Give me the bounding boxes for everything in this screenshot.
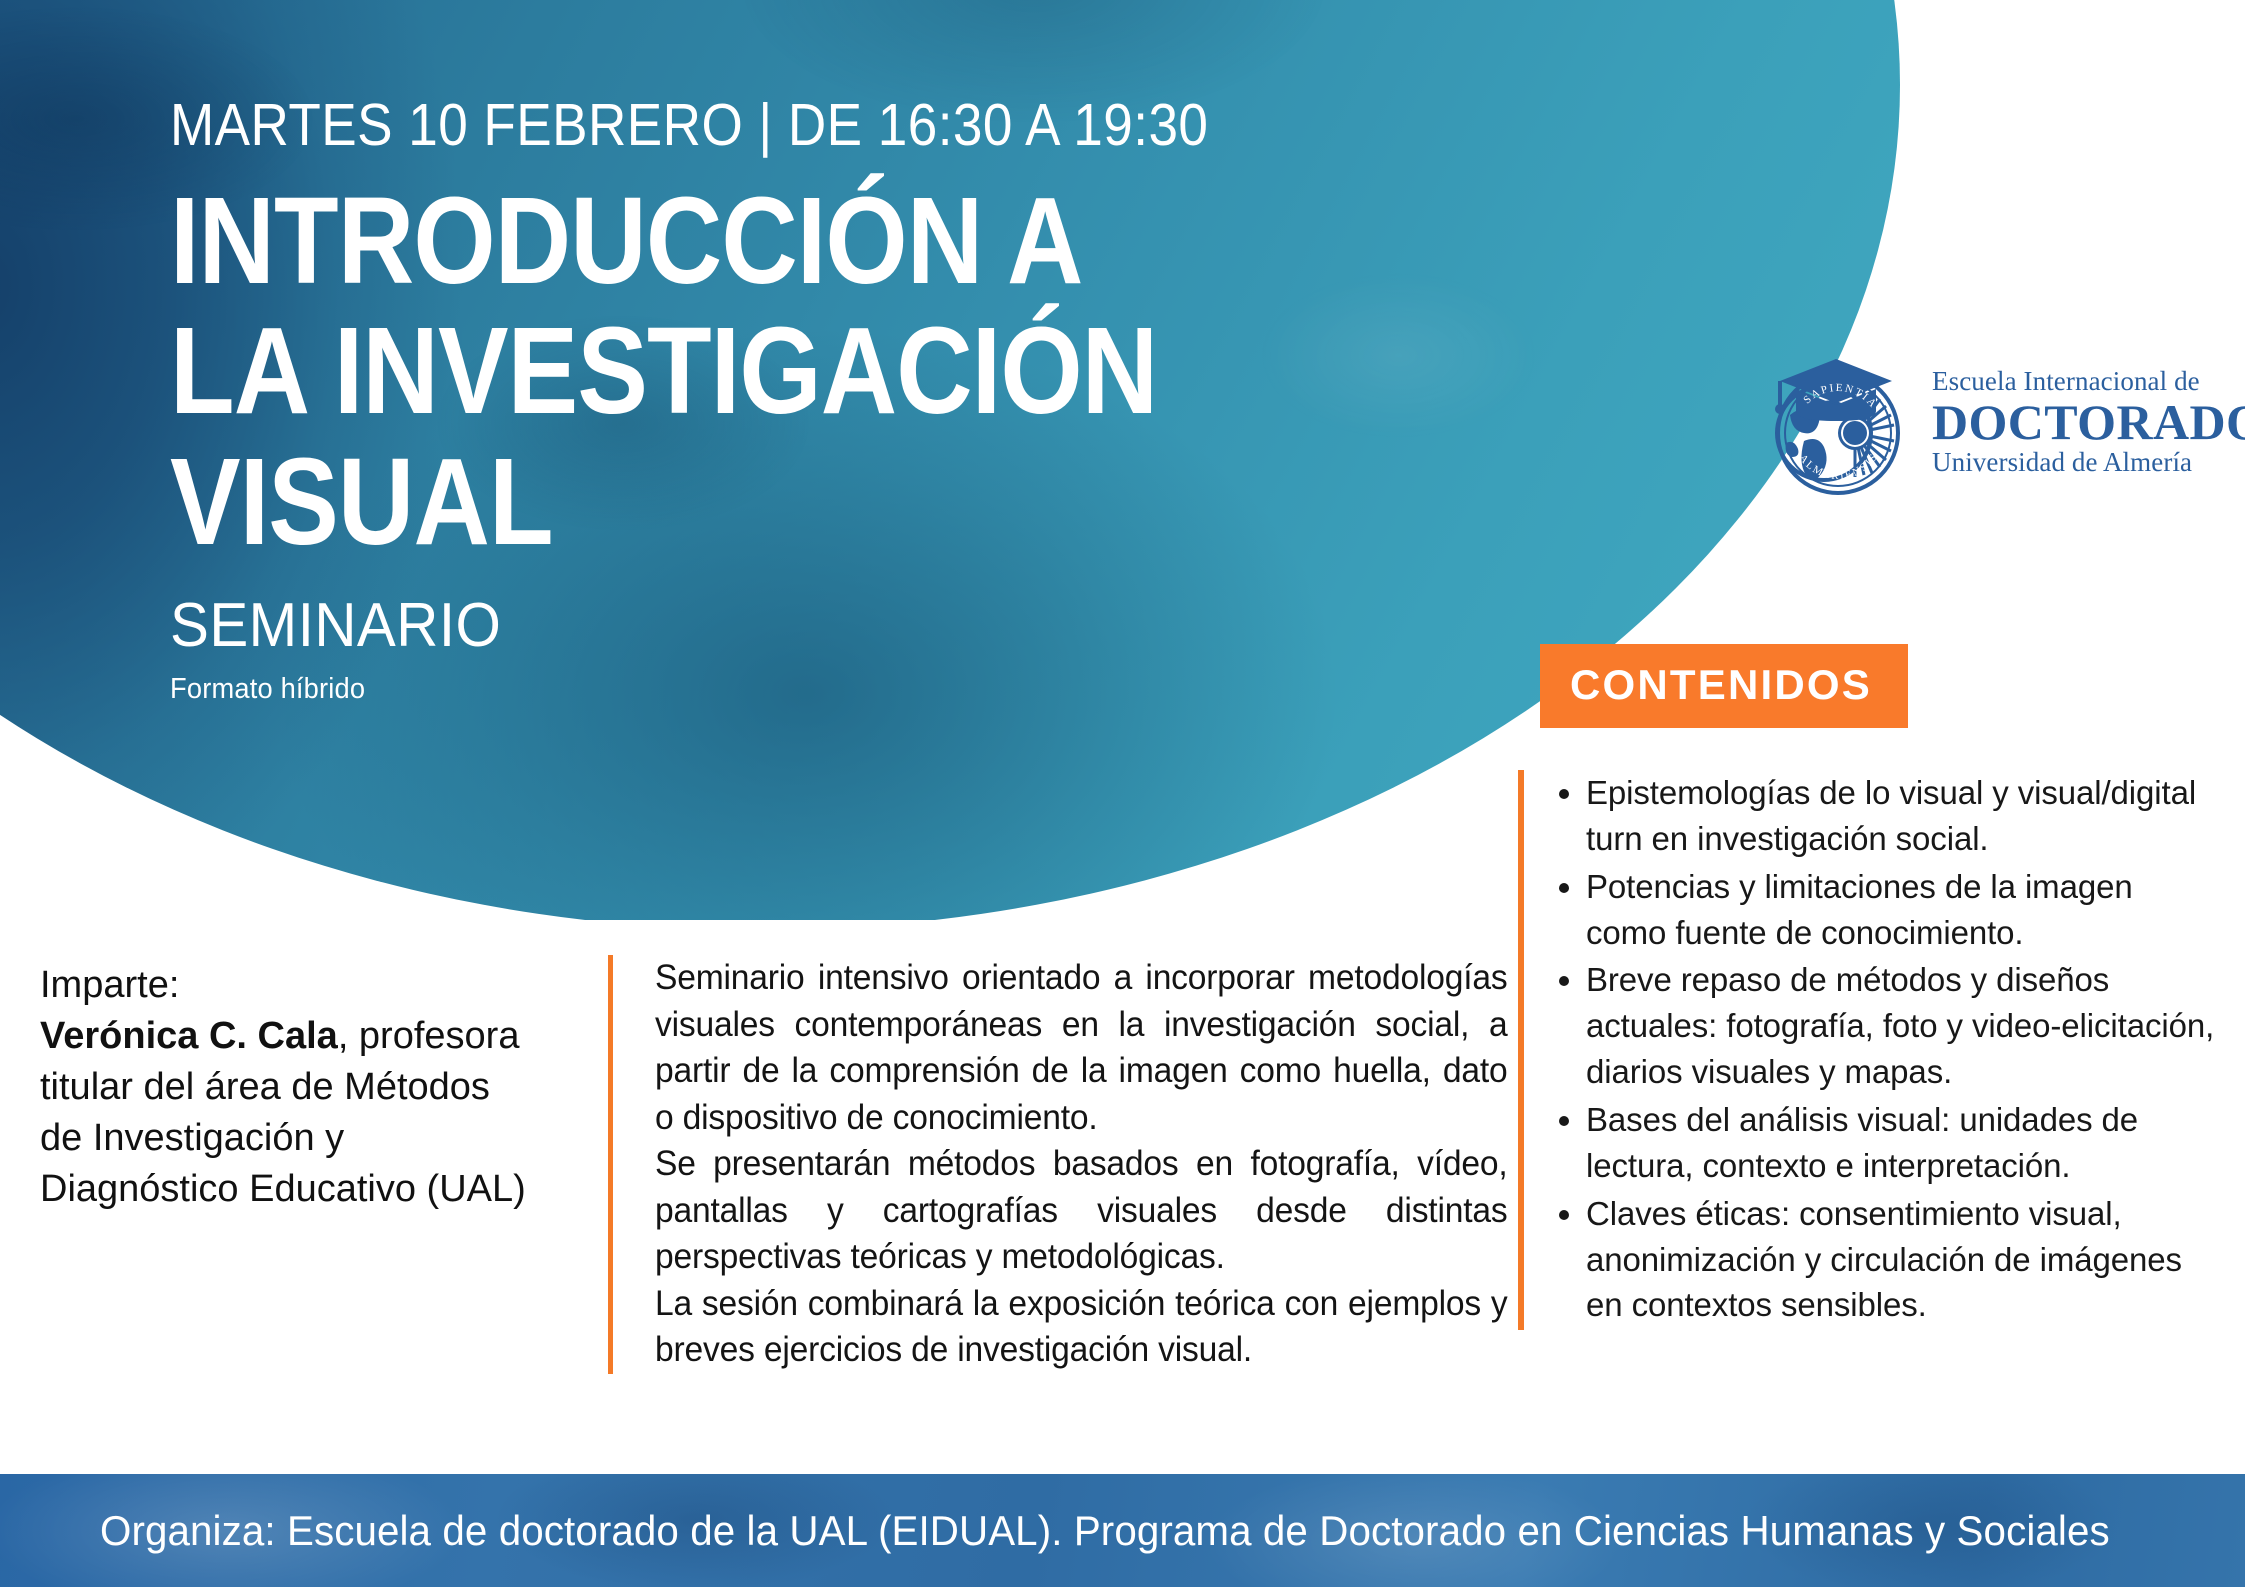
list-item: Bases del análisis visual: unidades de l…: [1586, 1097, 2216, 1189]
logo-line-doctorado: DOCTORADO: [1932, 397, 2245, 448]
imparte-label: Imparte:: [40, 960, 540, 1011]
description-paragraph-1: Seminario intensivo orientado a incorpor…: [655, 955, 1507, 1141]
list-item: Claves éticas: consentimiento visual, an…: [1586, 1191, 2216, 1329]
description-block: Seminario intensivo orientado a incorpor…: [608, 955, 1543, 1374]
contenidos-list: Epistemologías de lo visual y visual/dig…: [1518, 770, 2216, 1330]
title-line-1: INTRODUCCIÓN A: [170, 177, 1305, 307]
logo-wordmark: Escuela Internacional de DOCTORADO Unive…: [1932, 368, 2245, 476]
logo-line-university: Universidad de Almería: [1932, 449, 2245, 477]
instructor-block: Imparte: Verónica C. Cala, profesora tit…: [40, 960, 540, 1215]
list-item: Breve repaso de métodos y diseños actual…: [1586, 957, 2216, 1095]
graduation-cap-globe-seal-icon: SAPIENTIA ALMERIENSIS: [1760, 345, 1910, 500]
hero-text-block: MARTES 10 FEBRERO | DE 16:30 A 19:30 INT…: [170, 95, 1490, 706]
instructor-info: Verónica C. Cala, profesora titular del …: [40, 1011, 540, 1215]
event-format: Formato híbrido: [170, 673, 1411, 706]
instructor-name: Verónica C. Cala: [40, 1015, 338, 1057]
list-item: Epistemologías de lo visual y visual/dig…: [1586, 770, 2216, 862]
description-paragraph-3: La sesión combinará la exposición teóric…: [655, 1281, 1507, 1374]
event-type-subtitle: SEMINARIO: [170, 590, 1411, 661]
title-line-3: VISUAL: [170, 438, 1305, 568]
logo-line-school: Escuela Internacional de: [1932, 368, 2245, 396]
description-paragraph-2: Se presentarán métodos basados en fotogr…: [655, 1141, 1507, 1281]
list-item: Potencias y limitaciones de la imagen co…: [1586, 864, 2216, 956]
footer-bar: Organiza: Escuela de doctorado de la UAL…: [0, 1474, 2245, 1587]
footer-organizer-text: Organiza: Escuela de doctorado de la UAL…: [100, 1507, 2110, 1555]
contenidos-items: Epistemologías de lo visual y visual/dig…: [1556, 770, 2216, 1328]
institution-logo: SAPIENTIA ALMERIENSIS Escuela Internacio…: [1760, 340, 2190, 505]
event-date-time: MARTES 10 FEBRERO | DE 16:30 A 19:30: [170, 95, 1358, 157]
title-line-2: LA INVESTIGACIÓN: [170, 307, 1305, 437]
contenidos-badge: CONTENIDOS: [1540, 644, 1908, 728]
page-title: INTRODUCCIÓN A LA INVESTIGACIÓN VISUAL: [170, 177, 1305, 568]
